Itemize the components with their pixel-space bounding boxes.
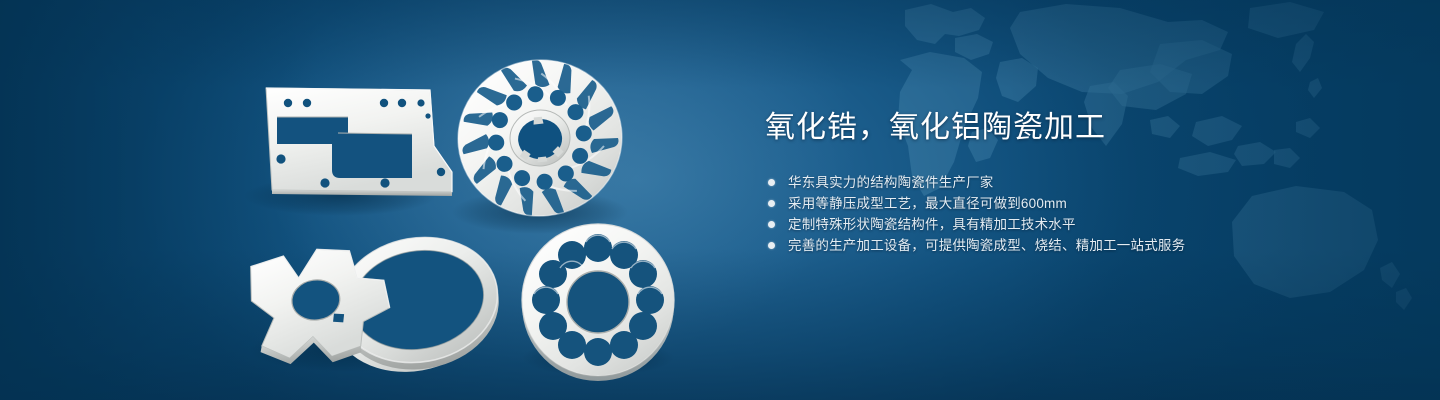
promo-banner: 氧化锆，氧化铝陶瓷加工 华东具实力的结构陶瓷件生产厂家 采用等静压成型工艺，最大…: [0, 0, 1440, 400]
feature-text: 华东具实力的结构陶瓷件生产厂家: [788, 172, 994, 193]
ceramic-machine-plate: [266, 88, 452, 196]
bullet-dot-icon: [768, 242, 775, 249]
feature-text: 采用等静压成型工艺，最大直径可做到600mm: [788, 193, 1067, 214]
feature-text: 完善的生产加工设备，可提供陶瓷成型、烧结、精加工一站式服务: [788, 235, 1185, 256]
list-item: 采用等静压成型工艺，最大直径可做到600mm: [768, 193, 1385, 214]
banner-text-block: 氧化锆，氧化铝陶瓷加工 华东具实力的结构陶瓷件生产厂家 采用等静压成型工艺，最大…: [765, 108, 1385, 256]
banner-headline: 氧化锆，氧化铝陶瓷加工: [765, 108, 1385, 148]
bullet-dot-icon: [768, 221, 775, 228]
bullet-dot-icon: [768, 179, 775, 186]
product-photo-collage: [0, 0, 720, 400]
list-item: 华东具实力的结构陶瓷件生产厂家: [768, 172, 1385, 193]
list-item: 完善的生产加工设备，可提供陶瓷成型、烧结、精加工一站式服务: [768, 235, 1385, 256]
list-item: 定制特殊形状陶瓷结构件，具有精加工技术水平: [768, 214, 1385, 235]
feature-text: 定制特殊形状陶瓷结构件，具有精加工技术水平: [788, 214, 1076, 235]
ceramic-perforated-ring: [522, 224, 674, 381]
feature-list: 华东具实力的结构陶瓷件生产厂家 采用等静压成型工艺，最大直径可做到600mm 定…: [768, 172, 1385, 256]
bullet-dot-icon: [768, 200, 775, 207]
